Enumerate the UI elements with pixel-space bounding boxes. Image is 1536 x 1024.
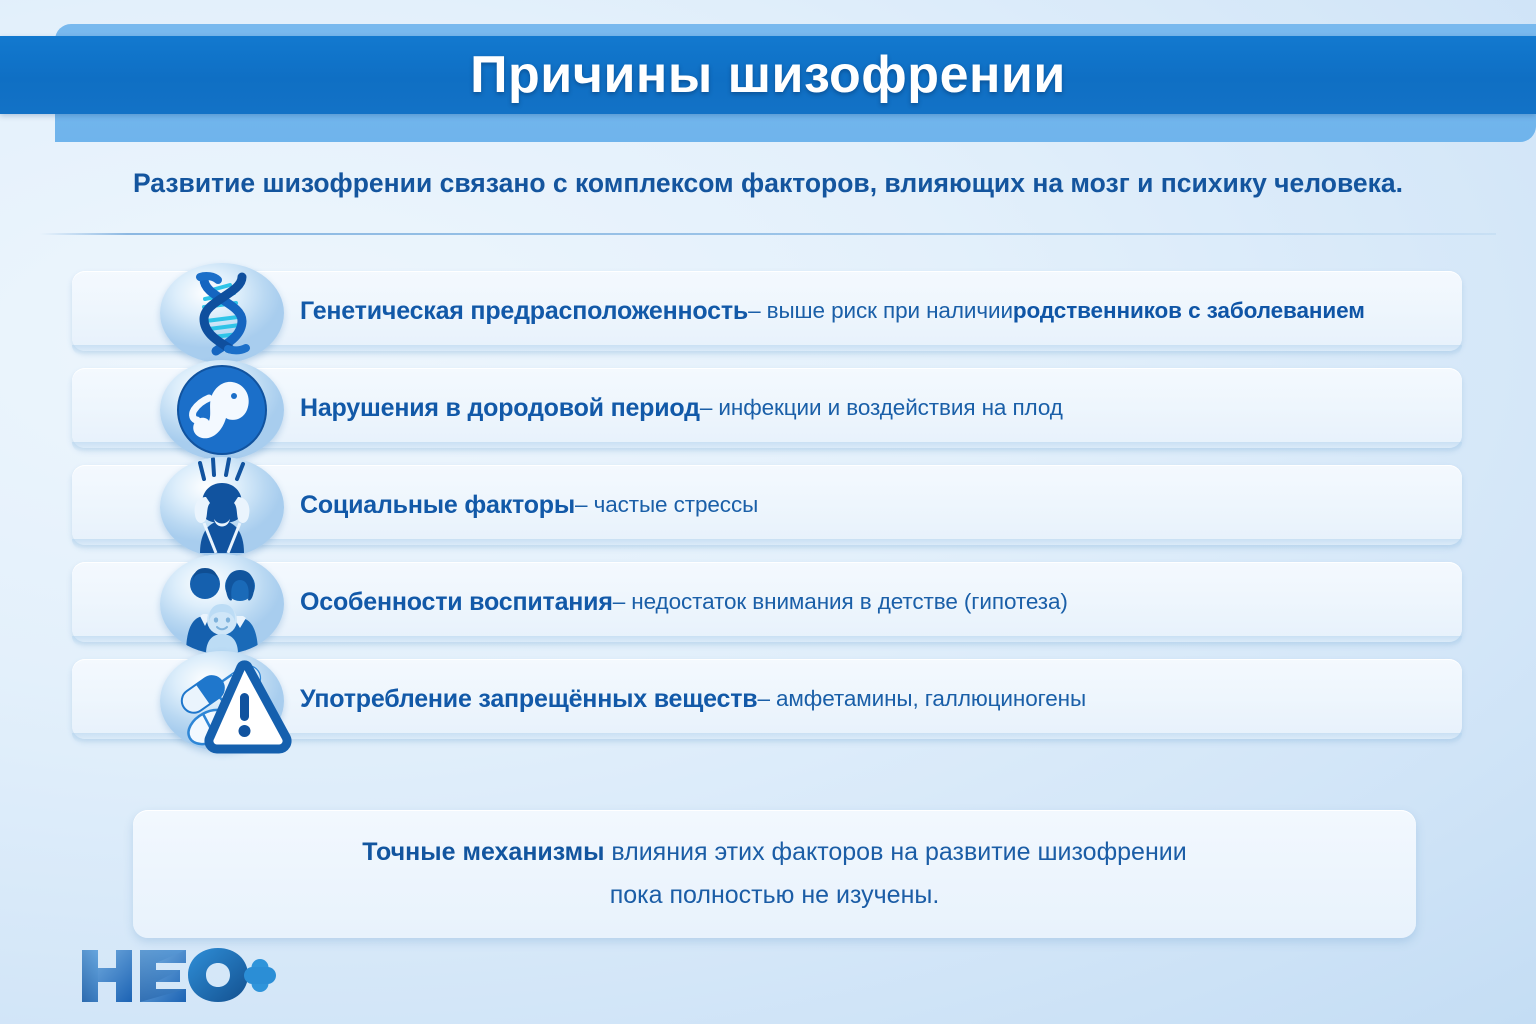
conclusion-line-2: пока полностью не изучены. bbox=[610, 881, 940, 910]
row-title: Употребление запрещённых веществ bbox=[300, 685, 757, 714]
pills-warning-icon bbox=[160, 651, 284, 751]
row-text: Нарушения в дородовой период – инфекции … bbox=[300, 363, 1063, 453]
divider bbox=[40, 233, 1496, 235]
row-text: Генетическая предрасположенность – выше … bbox=[300, 266, 1365, 356]
list-item[interactable]: Генетическая предрасположенность – выше … bbox=[0, 266, 1536, 363]
row-desc-pre: – амфетамины, галлюциногены bbox=[757, 686, 1086, 712]
list-item[interactable]: Употребление запрещённых веществ – амфет… bbox=[0, 654, 1536, 751]
list-item[interactable]: Особенности воспитания – недостаток вним… bbox=[0, 557, 1536, 654]
row-desc-bold: родственников с заболеванием bbox=[1013, 298, 1365, 324]
row-desc-pre: – инфекции и воздействия на плод bbox=[700, 395, 1063, 421]
row-text: Особенности воспитания – недостаток вним… bbox=[300, 557, 1068, 647]
row-title: Социальные факторы bbox=[300, 491, 575, 520]
row-title: Генетическая предрасположенность bbox=[300, 297, 748, 326]
infographic-canvas: Причины шизофрении Развитие шизофрении с… bbox=[0, 0, 1536, 1024]
intro-text: Развитие шизофрении связано с комплексом… bbox=[0, 168, 1536, 199]
row-desc-pre: – недостаток внимания в детстве (гипотез… bbox=[613, 589, 1068, 615]
row-desc-pre: – частые стрессы bbox=[575, 492, 758, 518]
family-icon bbox=[160, 554, 284, 654]
row-text: Социальные факторы – частые стрессы bbox=[300, 460, 758, 550]
conclusion-box: Точные механизмы влияния этих факторов н… bbox=[133, 810, 1416, 938]
list-item[interactable]: Социальные факторы – частые стрессы bbox=[0, 460, 1536, 557]
row-text: Употребление запрещённых веществ – амфет… bbox=[300, 654, 1086, 744]
row-title: Особенности воспитания bbox=[300, 588, 613, 617]
page-title: Причины шизофрении bbox=[0, 36, 1536, 114]
dna-icon bbox=[160, 263, 284, 363]
brand-logo[interactable] bbox=[78, 944, 278, 1006]
stress-head-icon bbox=[160, 457, 284, 557]
conclusion-bold: Точные механизмы bbox=[362, 838, 604, 866]
row-title: Нарушения в дородовой период bbox=[300, 394, 700, 423]
fetus-icon bbox=[160, 360, 284, 460]
list-item[interactable]: Нарушения в дородовой период – инфекции … bbox=[0, 363, 1536, 460]
factor-list: Генетическая предрасположенность – выше … bbox=[0, 266, 1536, 751]
row-desc-pre: – выше риск при наличии bbox=[748, 298, 1013, 324]
conclusion-line-1: Точные механизмы влияния этих факторов н… bbox=[362, 838, 1186, 867]
conclusion-rest: влияния этих факторов на развитие шизофр… bbox=[604, 838, 1186, 866]
